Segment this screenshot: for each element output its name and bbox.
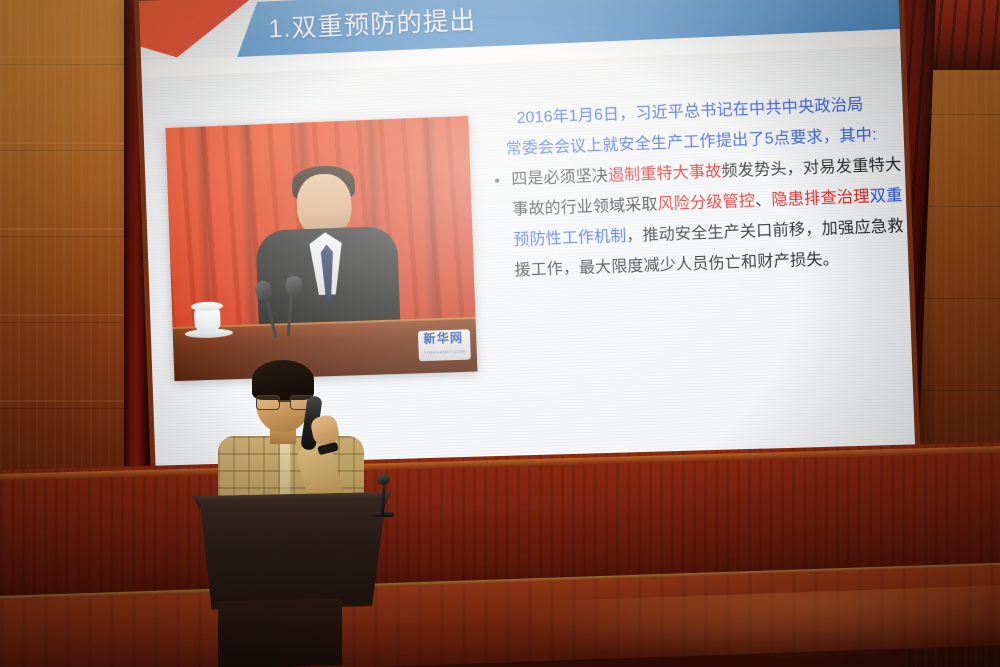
seg-2-4: 双重 <box>869 187 903 206</box>
watermark-text: 新华网 <box>423 330 463 345</box>
seg-1-1: 遏制重特大事故 <box>608 163 722 185</box>
watermark-subtext: XINHUANET.COM <box>424 345 466 359</box>
slide-header: 1.双重预防的提出 <box>139 0 901 87</box>
seg-2-0: 事故的行业领域采取 <box>512 196 658 219</box>
seg-1-2: 频发势头，对易发重特大 <box>721 156 902 180</box>
auditorium-scene: 1.双重预防的提出 <box>0 0 1000 667</box>
xinhuanet-watermark: 新华网 XINHUANET.COM <box>418 329 471 361</box>
seg-2-2: 、 <box>755 192 772 210</box>
seg-3-0: 预防性工作机制 <box>513 228 626 249</box>
glasses-icon <box>256 395 312 408</box>
seg-3-1: ，推动安全生产关口前移，加强应急救 <box>626 217 904 244</box>
slide-body-text: 2016年1月6日，习近平总书记在中共中央政治局 常委会会议上就安全生产工作提出… <box>492 89 894 287</box>
podium-base <box>218 598 342 667</box>
stand-microphone-icon <box>377 474 390 485</box>
podium <box>188 498 386 610</box>
photo-teacup <box>194 307 221 332</box>
seg-2-3: 隐患排查治理 <box>771 188 870 209</box>
bullet-dot-icon <box>495 178 499 182</box>
presenter-hair <box>252 360 314 400</box>
seg-1-0: 四是必须坚决 <box>511 167 608 188</box>
seg-2-1: 风险分级管控 <box>657 192 755 213</box>
slide-photo: 新华网 XINHUANET.COM <box>165 116 477 381</box>
bullet-paragraph: 四是必须坚决遏制重特大事故频发势头，对易发重特大 事故的行业领域采取风险分级管控… <box>495 150 895 286</box>
seg-4-0: 援工作，最大限度减少人员伤亡和财产损失。 <box>514 251 839 280</box>
